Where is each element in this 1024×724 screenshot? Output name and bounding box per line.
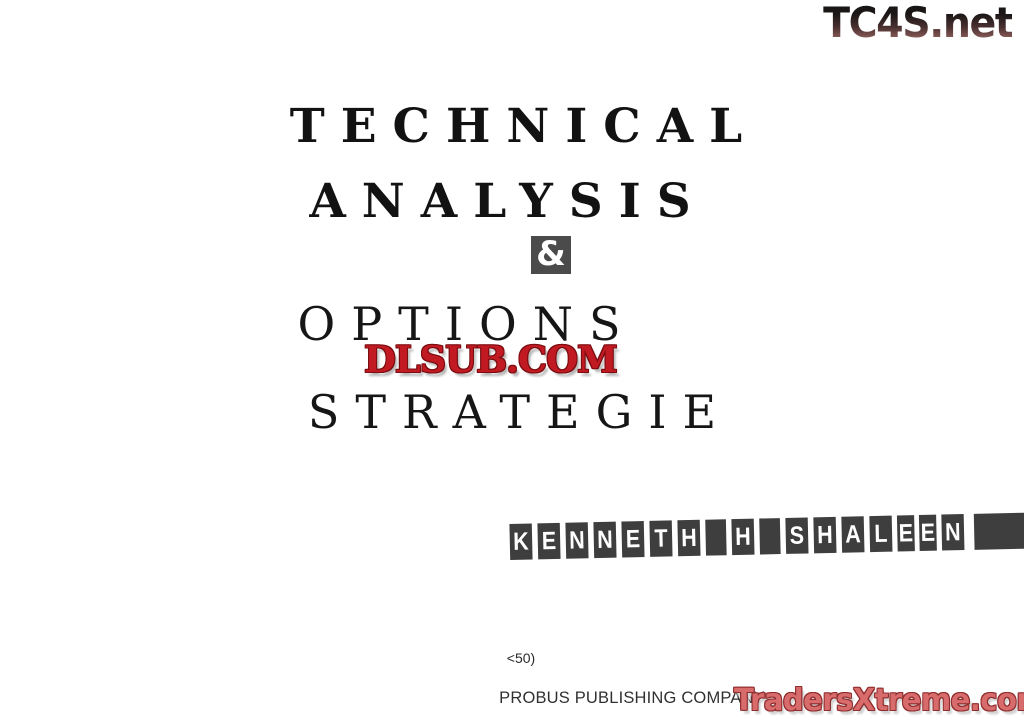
author-name-tile: A [841,516,864,552]
ampersand-box: & [531,236,571,274]
tradersxtreme-watermark: TradersXtreme.com [734,686,1024,716]
title-line-technical: TECHNICAL [0,99,1024,154]
author-name-tile [705,519,726,555]
dlsub-watermark: DLSUB.COM [364,342,617,378]
title-line-strategie: STRATEGIE [0,385,1024,439]
author-name-tile [759,518,780,554]
author-name-tile: K [509,523,532,559]
author-name-tile: E [621,521,644,557]
title-line-analysis: ANALYSIS [0,174,1020,229]
author-name-tile: E [537,523,560,559]
author-name-tile: N [565,522,588,558]
author-name-tile: H [731,519,754,555]
author-name-banner: KENNETHHSHALEEN [508,512,1024,560]
tc4s-watermark: TC4S.net [823,2,1012,44]
price-mark: <50) [9,650,1024,666]
ampersand-glyph: & [536,237,566,271]
author-name-tile: N [941,514,964,550]
author-name-tile: T [649,520,672,556]
author-name-tile: S [785,517,808,553]
author-name-tile: H [677,520,700,556]
author-name-tile: N [593,522,616,558]
author-name-tile: E [897,515,915,551]
author-name-tile [974,512,1024,550]
book-cover-page: TC4S.net TECHNICAL ANALYSIS & OPTIONS DL… [0,0,1024,724]
author-name-tile: H [813,517,836,553]
author-name-tile: E [919,515,937,551]
author-name-tile: L [869,516,892,552]
